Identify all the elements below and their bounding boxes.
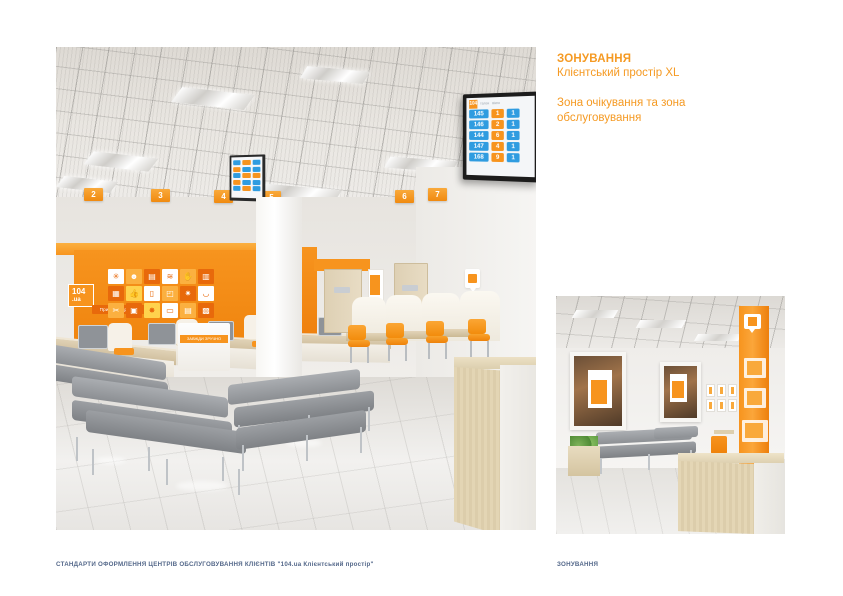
inset-brochure-leaflet: [747, 391, 762, 405]
bench-leg: [166, 459, 168, 485]
chair-leg: [470, 341, 472, 357]
wall-pictogram-sign: [465, 269, 480, 288]
desk-monitor: [148, 323, 176, 345]
inset-counter-face: [678, 461, 754, 534]
inset-render-image: [556, 296, 785, 534]
bench-leg: [148, 447, 150, 471]
footer-right-text: ЗОНУВАННЯ: [557, 561, 598, 568]
pictogram-icon: [468, 274, 477, 283]
queue-cell: [252, 173, 260, 178]
queue-column-windows: 1 2 6 4 9: [491, 109, 503, 162]
chair-leg: [487, 341, 489, 357]
queue-extra: 1: [507, 109, 520, 118]
desk-monitor: [78, 325, 108, 349]
counter-number-sign: 2: [84, 188, 103, 201]
queue-cell: [243, 179, 251, 184]
tile-icon-thumbs-up: 👍: [126, 286, 142, 301]
queue-cell: [252, 160, 260, 165]
caption-spacer: [557, 81, 817, 96]
brand-logo-number: 104: [72, 287, 85, 296]
info-frame: [706, 399, 715, 412]
inset-orange-stool: [711, 436, 727, 454]
info-frame-image: [720, 387, 723, 394]
brand-logo: 104 .ua: [68, 284, 94, 307]
counter-number-sign: 6: [395, 190, 414, 203]
queue-extra: 1: [507, 142, 520, 151]
caption-zone-line-1: Зона очікування та зона: [557, 96, 817, 111]
inset-ceiling-lamp: [694, 334, 742, 341]
inset-poster-graphic: [591, 380, 607, 404]
inset-counter-side: [754, 459, 785, 534]
queue-ticket: 168: [469, 153, 488, 162]
queue-display-board: 104 талон вікно 145 146 144 147 168 1 2: [463, 91, 536, 182]
main-render-image: 104 .ua Приємно дружні! ✳ ☻ ▤ ≋ ✋ ▥ ▦ 👍 …: [56, 47, 536, 530]
tile-icon-bottle: ▯: [144, 286, 160, 301]
wood-partition-face: [454, 367, 500, 530]
chair-back: [386, 323, 404, 338]
tile-icon-person: ☻: [126, 269, 142, 284]
chair-back: [348, 325, 366, 340]
queue-cell: [252, 180, 260, 185]
info-frame: [706, 384, 715, 397]
wood-partition-side-wall: [500, 365, 536, 530]
queue-ticket: 147: [469, 142, 488, 151]
tile-icon-cup: ◡: [198, 286, 214, 301]
caption-zone-line-2: обслуговування: [557, 111, 817, 126]
chair-leg: [428, 343, 430, 359]
bench-leg: [92, 449, 94, 475]
queue-cell: [233, 186, 241, 191]
queue-cell: [243, 173, 251, 178]
tile-icon-grid: ▩: [198, 303, 214, 318]
queue-display-screen: 104 талон вікно 145 146 144 147 168 1 2: [466, 96, 534, 177]
chair-seat: [468, 334, 490, 341]
info-frame: [717, 384, 726, 397]
tile-icon-star: ✷: [180, 286, 196, 301]
inset-column-pictogram-sign: [744, 314, 761, 329]
bench-leg: [242, 445, 244, 471]
tile-icon-calculator: ▦: [108, 286, 124, 301]
inset-ceiling-lamp: [572, 310, 619, 318]
chair-leg: [388, 345, 390, 361]
tile-icon-document: ≋: [162, 269, 178, 284]
queue-cell: [233, 179, 241, 184]
caption-title: ЗОНУВАННЯ: [557, 52, 817, 66]
queue-ticket: 146: [469, 120, 488, 129]
column-queue-col: [252, 160, 260, 196]
tile-icon-gas-flame: ✳: [108, 269, 124, 284]
tile-icon-tool: ✂: [108, 303, 124, 318]
inset-brochure-leaflet: [747, 361, 762, 375]
chair-leg: [350, 347, 352, 363]
chair-leg: [405, 345, 407, 361]
inset-side-table: [714, 430, 734, 434]
bench-leg: [76, 437, 78, 461]
queue-col-header-left: талон: [480, 101, 489, 105]
inset-poster-graphic: [672, 381, 684, 398]
bench-leg: [222, 457, 224, 481]
info-frame-image: [720, 402, 723, 409]
queue-cell: [252, 186, 260, 191]
counter-number-sign: 7: [428, 188, 447, 201]
queue-window: 9: [491, 153, 503, 162]
chair-leg: [367, 347, 369, 363]
bench-leg: [238, 469, 240, 495]
inset-ceiling-lamp: [636, 320, 687, 328]
info-frame-image: [709, 402, 712, 409]
chair-leg: [445, 343, 447, 359]
queue-cell: [233, 167, 241, 172]
chair-seat: [348, 340, 370, 347]
tile-icon-handshake: ✋: [180, 269, 196, 284]
queue-window: 1: [491, 109, 503, 118]
queue-ticket: 144: [469, 131, 488, 140]
inset-bench-leg: [648, 454, 650, 470]
queue-window: 2: [491, 120, 503, 129]
queue-extra: 1: [507, 153, 520, 162]
queue-cell: [233, 160, 241, 165]
bench-leg: [360, 427, 362, 453]
queue-window: 4: [491, 142, 503, 151]
info-frame-image: [709, 387, 712, 394]
info-podium: [178, 323, 230, 371]
pictogram-icon: [748, 317, 757, 326]
info-frame: [717, 399, 726, 412]
wall-poster-image: [370, 275, 380, 295]
inset-bench-backrest: [654, 426, 698, 439]
inset-planter-box: [568, 446, 600, 476]
tile-icon-boiler: ▣: [126, 303, 142, 318]
bench-leg: [306, 435, 308, 461]
chair-back: [468, 319, 486, 334]
queue-cell: [252, 166, 260, 171]
caption-block: ЗОНУВАННЯ Клієнтський простір XL Зона оч…: [557, 52, 817, 126]
queue-cell: [243, 166, 251, 171]
inset-info-wall-frames: [706, 384, 737, 412]
queue-board-logo: 104: [469, 99, 477, 108]
queue-column-tickets: 145 146 144 147 168: [469, 109, 488, 161]
info-podium-label: ЗАВЖДИ ЗРУЧНО: [182, 336, 226, 342]
info-frame-image: [731, 402, 734, 409]
chair-seat: [386, 338, 408, 345]
page-canvas: 104 .ua Приємно дружні! ✳ ☻ ▤ ≋ ✋ ▥ ▦ 👍 …: [0, 0, 843, 596]
floor-reflection: [176, 481, 228, 491]
queue-col-header-right: вікно: [492, 101, 500, 105]
inset-counter-top: [678, 453, 784, 463]
operator-chair: [108, 323, 132, 351]
queue-extra: 1: [507, 131, 520, 140]
info-frame-image: [731, 387, 734, 394]
tile-icon-flame-small: ✸: [144, 303, 160, 318]
column-queue-col: [243, 160, 251, 195]
queue-cell: [243, 160, 251, 165]
info-frame: [728, 384, 737, 397]
tile-icon-meter: ▤: [144, 269, 160, 284]
queue-cell: [233, 173, 241, 178]
tile-icon-book: ▥: [198, 269, 214, 284]
tile-icon-kettle: ◰: [162, 286, 178, 301]
queue-ticket: 145: [469, 109, 488, 118]
footer-left-text: СТАНДАРТИ ОФОРМЛЕННЯ ЦЕНТРІВ ОБСЛУГОВУВА…: [56, 561, 374, 568]
counter-number-sign: 3: [151, 189, 170, 202]
queue-extra: 1: [507, 120, 520, 129]
chair-back: [426, 321, 444, 336]
tile-icon-stove: ▤: [180, 303, 196, 318]
queue-cell: [243, 186, 251, 191]
caption-subtitle: Клієнтський простір XL: [557, 66, 817, 81]
brand-logo-suffix: .ua: [72, 296, 93, 304]
tile-icon-bag: ▭: [162, 303, 178, 318]
queue-column-extra: 1 1 1 1 1: [507, 109, 520, 163]
inset-bench-leg: [600, 458, 602, 474]
bench-leg: [368, 407, 370, 431]
service-icon-tile-grid: ✳ ☻ ▤ ≋ ✋ ▥ ▦ 👍 ▯ ◰ ✷ ◡ ✂ ▣ ✸ ▭ ▤ ▩: [108, 269, 214, 318]
queue-window: 6: [491, 131, 503, 140]
column-queue-col: [233, 160, 241, 195]
floor-reflection: [96, 457, 126, 464]
column-queue-monitor: [230, 154, 266, 201]
queue-columns: 145 146 144 147 168 1 2 6 4 9 1: [466, 108, 534, 163]
inset-brochure-leaflet: [745, 423, 763, 438]
door-nameplate: [334, 287, 350, 293]
teller-desk-body: [296, 343, 390, 363]
info-frame: [728, 399, 737, 412]
column-queue-screen: [231, 157, 262, 199]
chair-seat: [426, 336, 448, 343]
door-nameplate: [402, 285, 418, 291]
